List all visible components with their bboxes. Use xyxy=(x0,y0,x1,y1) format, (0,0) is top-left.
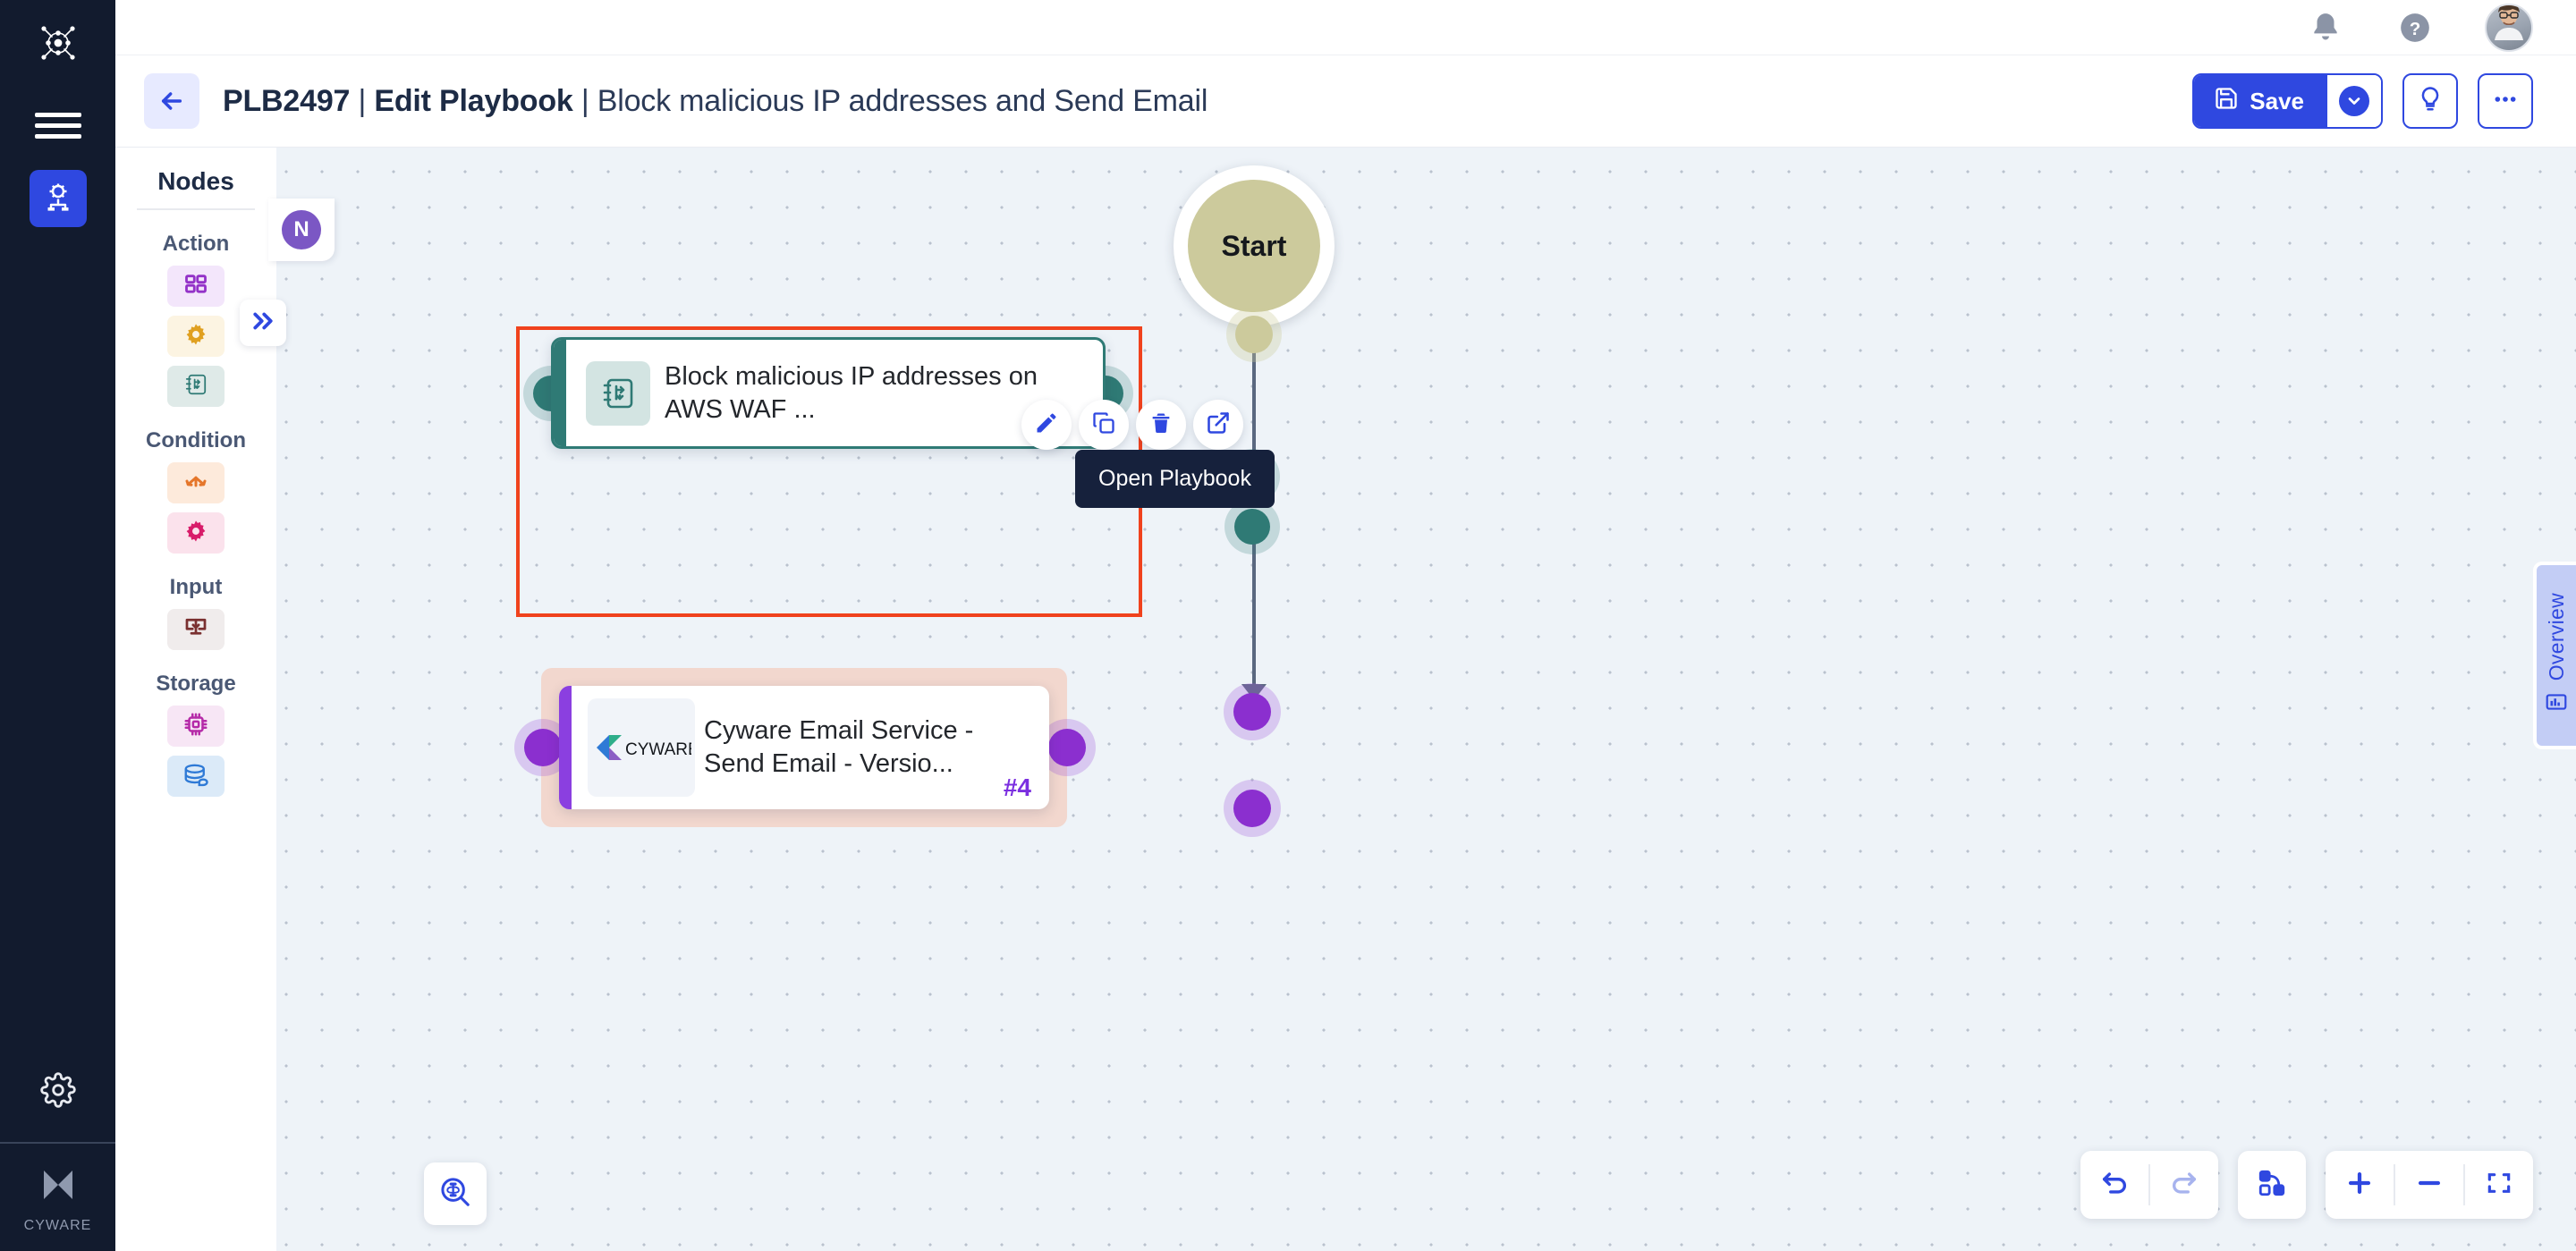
node2-left-port[interactable] xyxy=(524,729,562,766)
palette-tile-app-action[interactable] xyxy=(167,266,225,307)
gear-icon xyxy=(183,519,208,548)
node2-input-port[interactable] xyxy=(1233,693,1271,731)
header-actions: Save xyxy=(2192,73,2533,129)
cyware-logo-icon: CYWARE xyxy=(588,698,695,797)
minus-icon xyxy=(2414,1168,2445,1203)
page-title-id: PLB2497 xyxy=(223,84,350,118)
undo-button[interactable] xyxy=(2080,1151,2148,1219)
save-button-label: Save xyxy=(2250,88,2304,115)
auto-layout-button[interactable] xyxy=(2238,1151,2306,1219)
edit-node-button[interactable] xyxy=(1021,400,1072,450)
palette-tile-user-input[interactable] xyxy=(167,609,225,650)
hamburger-menu-icon[interactable] xyxy=(35,107,81,143)
undo-arrow-icon xyxy=(2099,1168,2130,1203)
trash-icon xyxy=(1148,410,1174,440)
open-playbook-button[interactable] xyxy=(1193,400,1243,450)
page-title-section: Edit Playbook xyxy=(374,84,572,118)
start-node[interactable]: Start xyxy=(1174,165,1335,326)
monitor-input-icon xyxy=(182,614,209,646)
branch-icon xyxy=(182,468,209,499)
node-accent-bar xyxy=(559,686,572,809)
orchestration-gear-icon xyxy=(40,179,76,219)
palette-tile-memory[interactable] xyxy=(167,706,225,747)
palette-tile-condition-utility[interactable] xyxy=(167,512,225,554)
palette-group-action: Action xyxy=(163,232,230,257)
playbook-canvas[interactable]: Start Block xyxy=(115,148,2576,1251)
redo-arrow-icon xyxy=(2169,1168,2199,1203)
sidebar-item-settings[interactable] xyxy=(30,1061,87,1119)
palette-tile-decision[interactable] xyxy=(167,462,225,503)
svg-text:?: ? xyxy=(2410,18,2421,38)
zoom-out-button[interactable] xyxy=(2395,1151,2463,1219)
flow-graph: Start Block xyxy=(115,148,2576,1251)
search-nodes-button[interactable] xyxy=(424,1162,487,1225)
fit-screen-icon xyxy=(2485,1169,2513,1202)
start-node-output-port[interactable] xyxy=(1235,316,1273,353)
external-link-icon xyxy=(1206,410,1231,440)
more-options-button[interactable] xyxy=(2478,73,2533,129)
node2-output-port[interactable] xyxy=(1233,790,1271,827)
node-accent-bar xyxy=(554,340,566,446)
palette-divider xyxy=(137,208,255,210)
save-button[interactable]: Save xyxy=(2194,75,2327,127)
avatar[interactable] xyxy=(2485,4,2533,52)
cyware-logo-icon xyxy=(35,1162,81,1213)
collapse-palette-button[interactable] xyxy=(240,300,286,346)
save-button-group: Save xyxy=(2192,73,2383,129)
palette-tile-database[interactable] xyxy=(167,756,225,797)
question-circle-icon[interactable]: ? xyxy=(2395,8,2435,47)
page-title-name: Block malicious IP addresses and Send Em… xyxy=(597,84,1207,118)
top-bar: ? xyxy=(115,0,2576,55)
overview-panel-tab[interactable]: Overview xyxy=(2533,562,2576,749)
palette-group-input: Input xyxy=(170,575,223,600)
sub-playbook-icon xyxy=(586,361,650,426)
node1-output-port[interactable] xyxy=(1234,509,1270,545)
hint-button[interactable] xyxy=(2402,73,2458,129)
palette-group-condition: Condition xyxy=(146,428,246,453)
palette-tile-sub-playbook[interactable] xyxy=(167,366,225,407)
floppy-disk-icon xyxy=(2214,86,2239,117)
auto-layout-tool-group xyxy=(2238,1151,2306,1219)
lightbulb-icon xyxy=(2417,86,2444,117)
node-badge-letter: N xyxy=(282,210,321,249)
fit-view-button[interactable] xyxy=(2465,1151,2533,1219)
new-node-badge-card[interactable]: N xyxy=(268,199,335,261)
flow-node-cyware-email[interactable]: CYWARE Cyware Email Service - Send Email… xyxy=(559,686,1049,809)
gear-icon xyxy=(183,322,208,351)
left-nav-rail: CYWARE xyxy=(0,0,115,1251)
duplicate-node-button[interactable] xyxy=(1079,400,1129,450)
chevron-double-right-icon xyxy=(250,308,276,339)
node-title: Cyware Email Service - Send Email - Vers… xyxy=(704,714,1049,780)
canvas-toolbar xyxy=(2080,1151,2533,1219)
database-icon xyxy=(182,761,209,792)
start-node-label: Start xyxy=(1188,180,1320,312)
pencil-icon xyxy=(1034,410,1059,440)
chip-icon xyxy=(182,711,209,742)
more-horizontal-icon xyxy=(2491,85,2520,118)
svg-text:CYWARE: CYWARE xyxy=(625,740,691,759)
zoom-tool-group xyxy=(2326,1151,2533,1219)
sidebar-item-orchestrate[interactable] xyxy=(30,170,87,227)
sub-playbook-icon xyxy=(182,371,209,402)
chevron-down-icon xyxy=(2339,86,2369,116)
zoom-in-button[interactable] xyxy=(2326,1151,2394,1219)
cyware-network-logo-icon[interactable] xyxy=(33,18,83,68)
search-flow-icon xyxy=(438,1175,472,1213)
node-palette-title: Nodes xyxy=(157,167,234,196)
redo-button[interactable] xyxy=(2150,1151,2218,1219)
palette-tile-utility-action[interactable] xyxy=(167,316,225,357)
cyware-brand: CYWARE xyxy=(0,1144,115,1251)
overview-label: Overview xyxy=(2545,593,2569,680)
history-tool-group xyxy=(2080,1151,2218,1219)
delete-node-button[interactable] xyxy=(1136,400,1186,450)
open-playbook-tooltip: Open Playbook xyxy=(1075,450,1275,508)
brand-wordmark: CYWARE xyxy=(24,1218,92,1234)
plus-icon xyxy=(2344,1168,2375,1203)
grid-squares-icon xyxy=(183,272,208,301)
copy-icon xyxy=(1091,410,1116,440)
playbook-editor-app: CYWARE ? xyxy=(0,0,2576,1251)
back-button[interactable] xyxy=(144,73,199,129)
page-header: PLB2497 | Edit Playbook | Block maliciou… xyxy=(115,55,2576,148)
bell-icon[interactable] xyxy=(2306,8,2345,47)
node-number-badge: #4 xyxy=(1004,773,1031,802)
auto-layout-icon xyxy=(2257,1168,2287,1203)
palette-group-storage: Storage xyxy=(156,672,235,697)
node-hover-toolbar xyxy=(1021,400,1243,450)
node2-right-port[interactable] xyxy=(1048,729,1086,766)
page-title: PLB2497 | Edit Playbook | Block maliciou… xyxy=(223,84,1207,119)
save-dropdown-button[interactable] xyxy=(2327,75,2381,127)
minimap-icon xyxy=(2545,690,2568,718)
